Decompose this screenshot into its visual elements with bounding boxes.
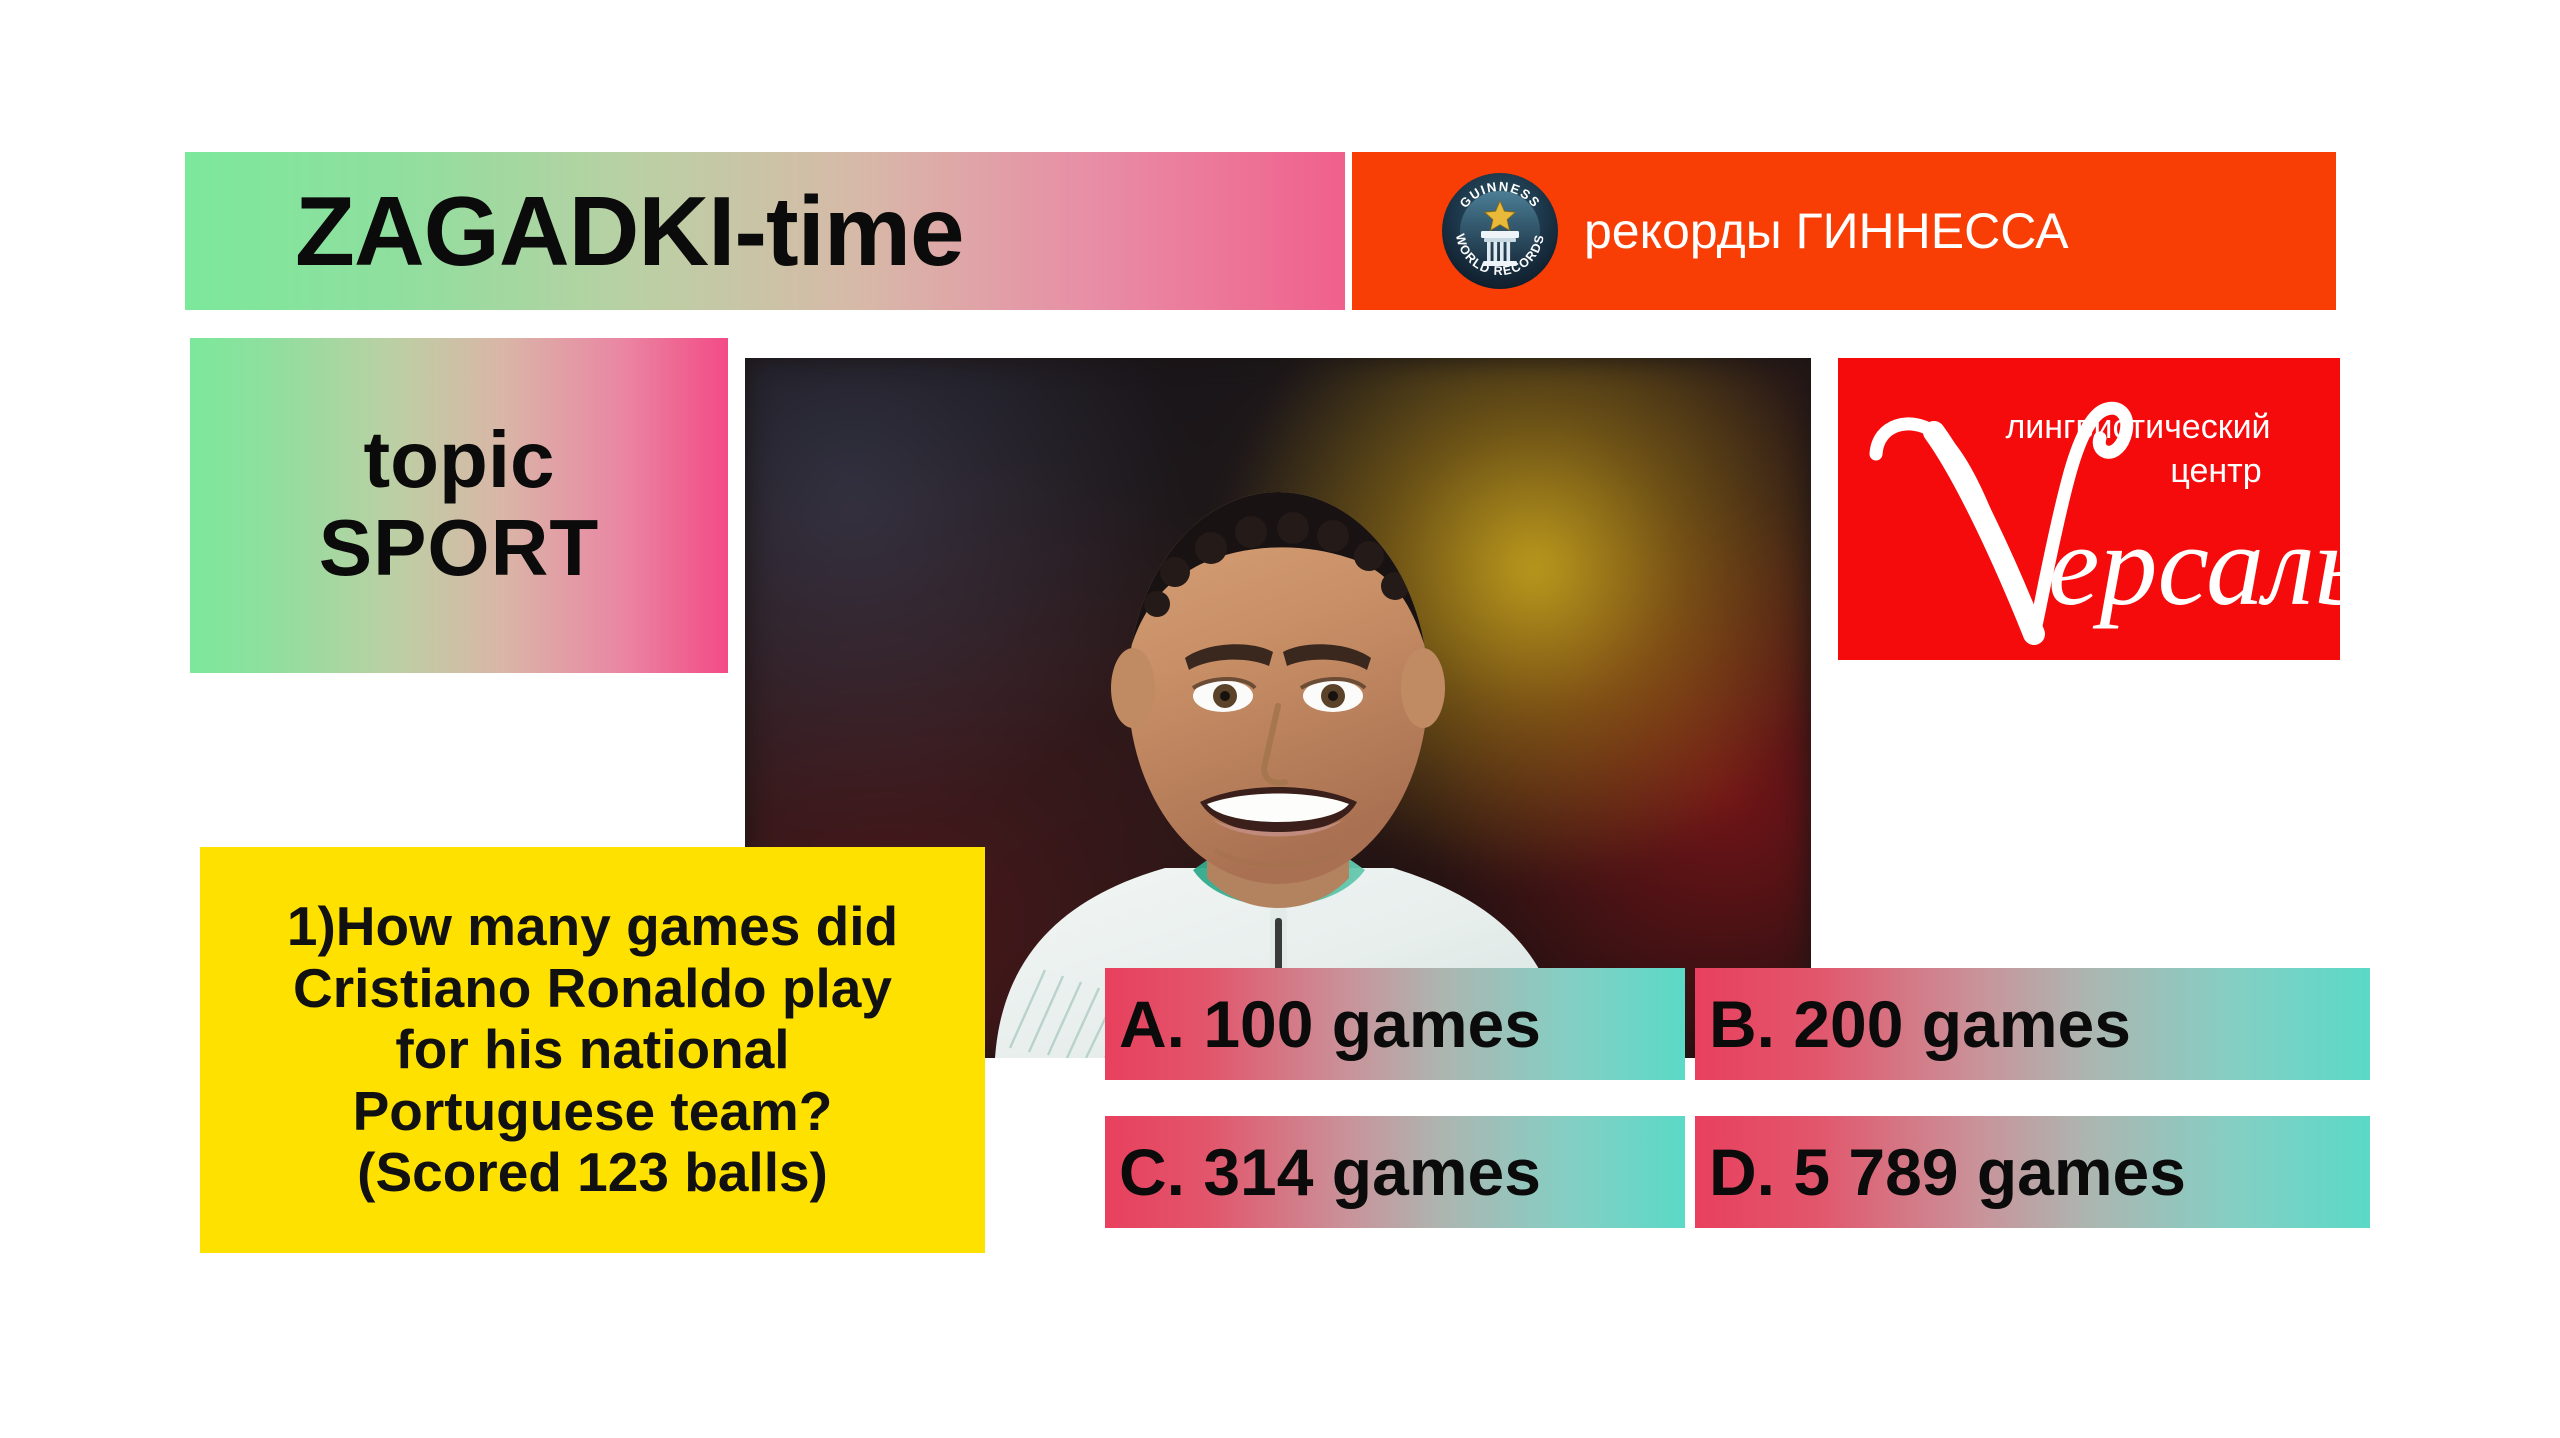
question-line: Portuguese team? — [353, 1081, 833, 1143]
answer-option-a[interactable]: A. 100 games — [1105, 968, 1685, 1080]
sponsor-tagline-line2: центр — [2170, 452, 2261, 490]
question-box: 1)How many games did Cristiano Ronaldo p… — [200, 847, 985, 1253]
guinness-label: рекорды ГИННЕССА — [1584, 202, 2069, 260]
answer-option-b-label: B. 200 games — [1695, 991, 2131, 1057]
page-title: ZAGADKI-time — [185, 182, 964, 280]
title-banner: ZAGADKI-time — [185, 152, 1345, 310]
answer-option-a-label: A. 100 games — [1105, 991, 1541, 1057]
guinness-brand-bar: GUINNESS WORLD RECORDS рекорды ГИННЕССА — [1352, 152, 2336, 310]
slide-canvas: ZAGADKI-time — [0, 0, 2560, 1438]
question-line: Cristiano Ronaldo play — [293, 958, 892, 1020]
answer-option-d-label: D. 5 789 games — [1695, 1139, 2186, 1205]
topic-label: topic — [363, 418, 554, 502]
answer-option-c-label: C. 314 games — [1105, 1139, 1541, 1205]
question-line: 1)How many games did — [287, 896, 898, 958]
topic-box: topic SPORT — [190, 338, 728, 673]
guinness-world-records-icon: GUINNESS WORLD RECORDS — [1440, 171, 1560, 291]
sponsor-name: ерсаль — [2048, 502, 2340, 630]
versal-sponsor-logo: лингвистический центр ерсаль — [1838, 358, 2340, 660]
question-line: (Scored 123 balls) — [357, 1142, 828, 1204]
answer-options: A. 100 games B. 200 games C. 314 games D… — [1105, 968, 2370, 1228]
topic-value: SPORT — [319, 502, 600, 594]
answer-option-b[interactable]: B. 200 games — [1695, 968, 2370, 1080]
answer-option-c[interactable]: C. 314 games — [1105, 1116, 1685, 1228]
answer-option-d[interactable]: D. 5 789 games — [1695, 1116, 2370, 1228]
sponsor-tagline-line1: лингвистический — [2005, 408, 2270, 446]
question-line: for his national — [395, 1019, 789, 1081]
